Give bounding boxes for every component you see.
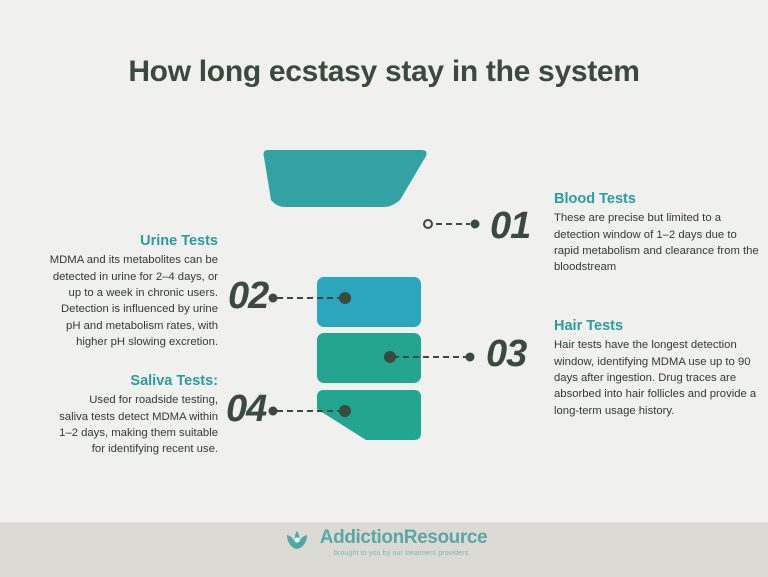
footer-logo[interactable]: AddictionResource brought to you by our … (0, 518, 768, 566)
logo-wordmark: AddictionResource (320, 528, 487, 547)
callout-title-blood-tests: Blood Tests (554, 190, 759, 208)
connector-01 (424, 220, 480, 229)
callout-title-hair-tests: Hair Tests (554, 317, 759, 335)
index-number-03: 03 (486, 335, 526, 373)
callout-saliva-tests: Saliva Tests: Used for roadside testing,… (58, 372, 218, 458)
infographic-canvas: How long ecstasy stay in the system (0, 0, 768, 576)
funnel-segment-01[interactable] (264, 150, 427, 207)
callout-urine-tests: Urine Tests MDMA and its metabolites can… (48, 232, 218, 350)
index-number-02: 02 (228, 277, 268, 315)
callout-hair-tests: Hair Tests Hair tests have the longest d… (554, 317, 759, 419)
callout-title-urine-tests: Urine Tests (48, 232, 218, 250)
callout-body-urine-tests: MDMA and its metabolites can be detected… (48, 252, 218, 350)
index-number-01: 01 (490, 207, 530, 245)
callout-body-saliva-tests: Used for roadside testing, saliva tests … (58, 392, 218, 458)
lotus-leaf-icon (281, 527, 313, 557)
callout-body-hair-tests: Hair tests have the longest detection wi… (554, 337, 759, 419)
logo-tagline: brought to you by our treatment provider… (334, 550, 469, 557)
callout-body-blood-tests: These are precise but limited to a detec… (554, 210, 759, 276)
callout-title-saliva-tests: Saliva Tests: (58, 372, 218, 390)
callout-blood-tests: Blood Tests These are precise but limite… (554, 190, 759, 276)
funnel-segment-02[interactable] (317, 277, 421, 327)
index-number-04: 04 (226, 390, 266, 428)
logo-text-wrap: AddictionResource brought to you by our … (320, 528, 487, 557)
funnel-segment-04[interactable] (317, 390, 421, 440)
